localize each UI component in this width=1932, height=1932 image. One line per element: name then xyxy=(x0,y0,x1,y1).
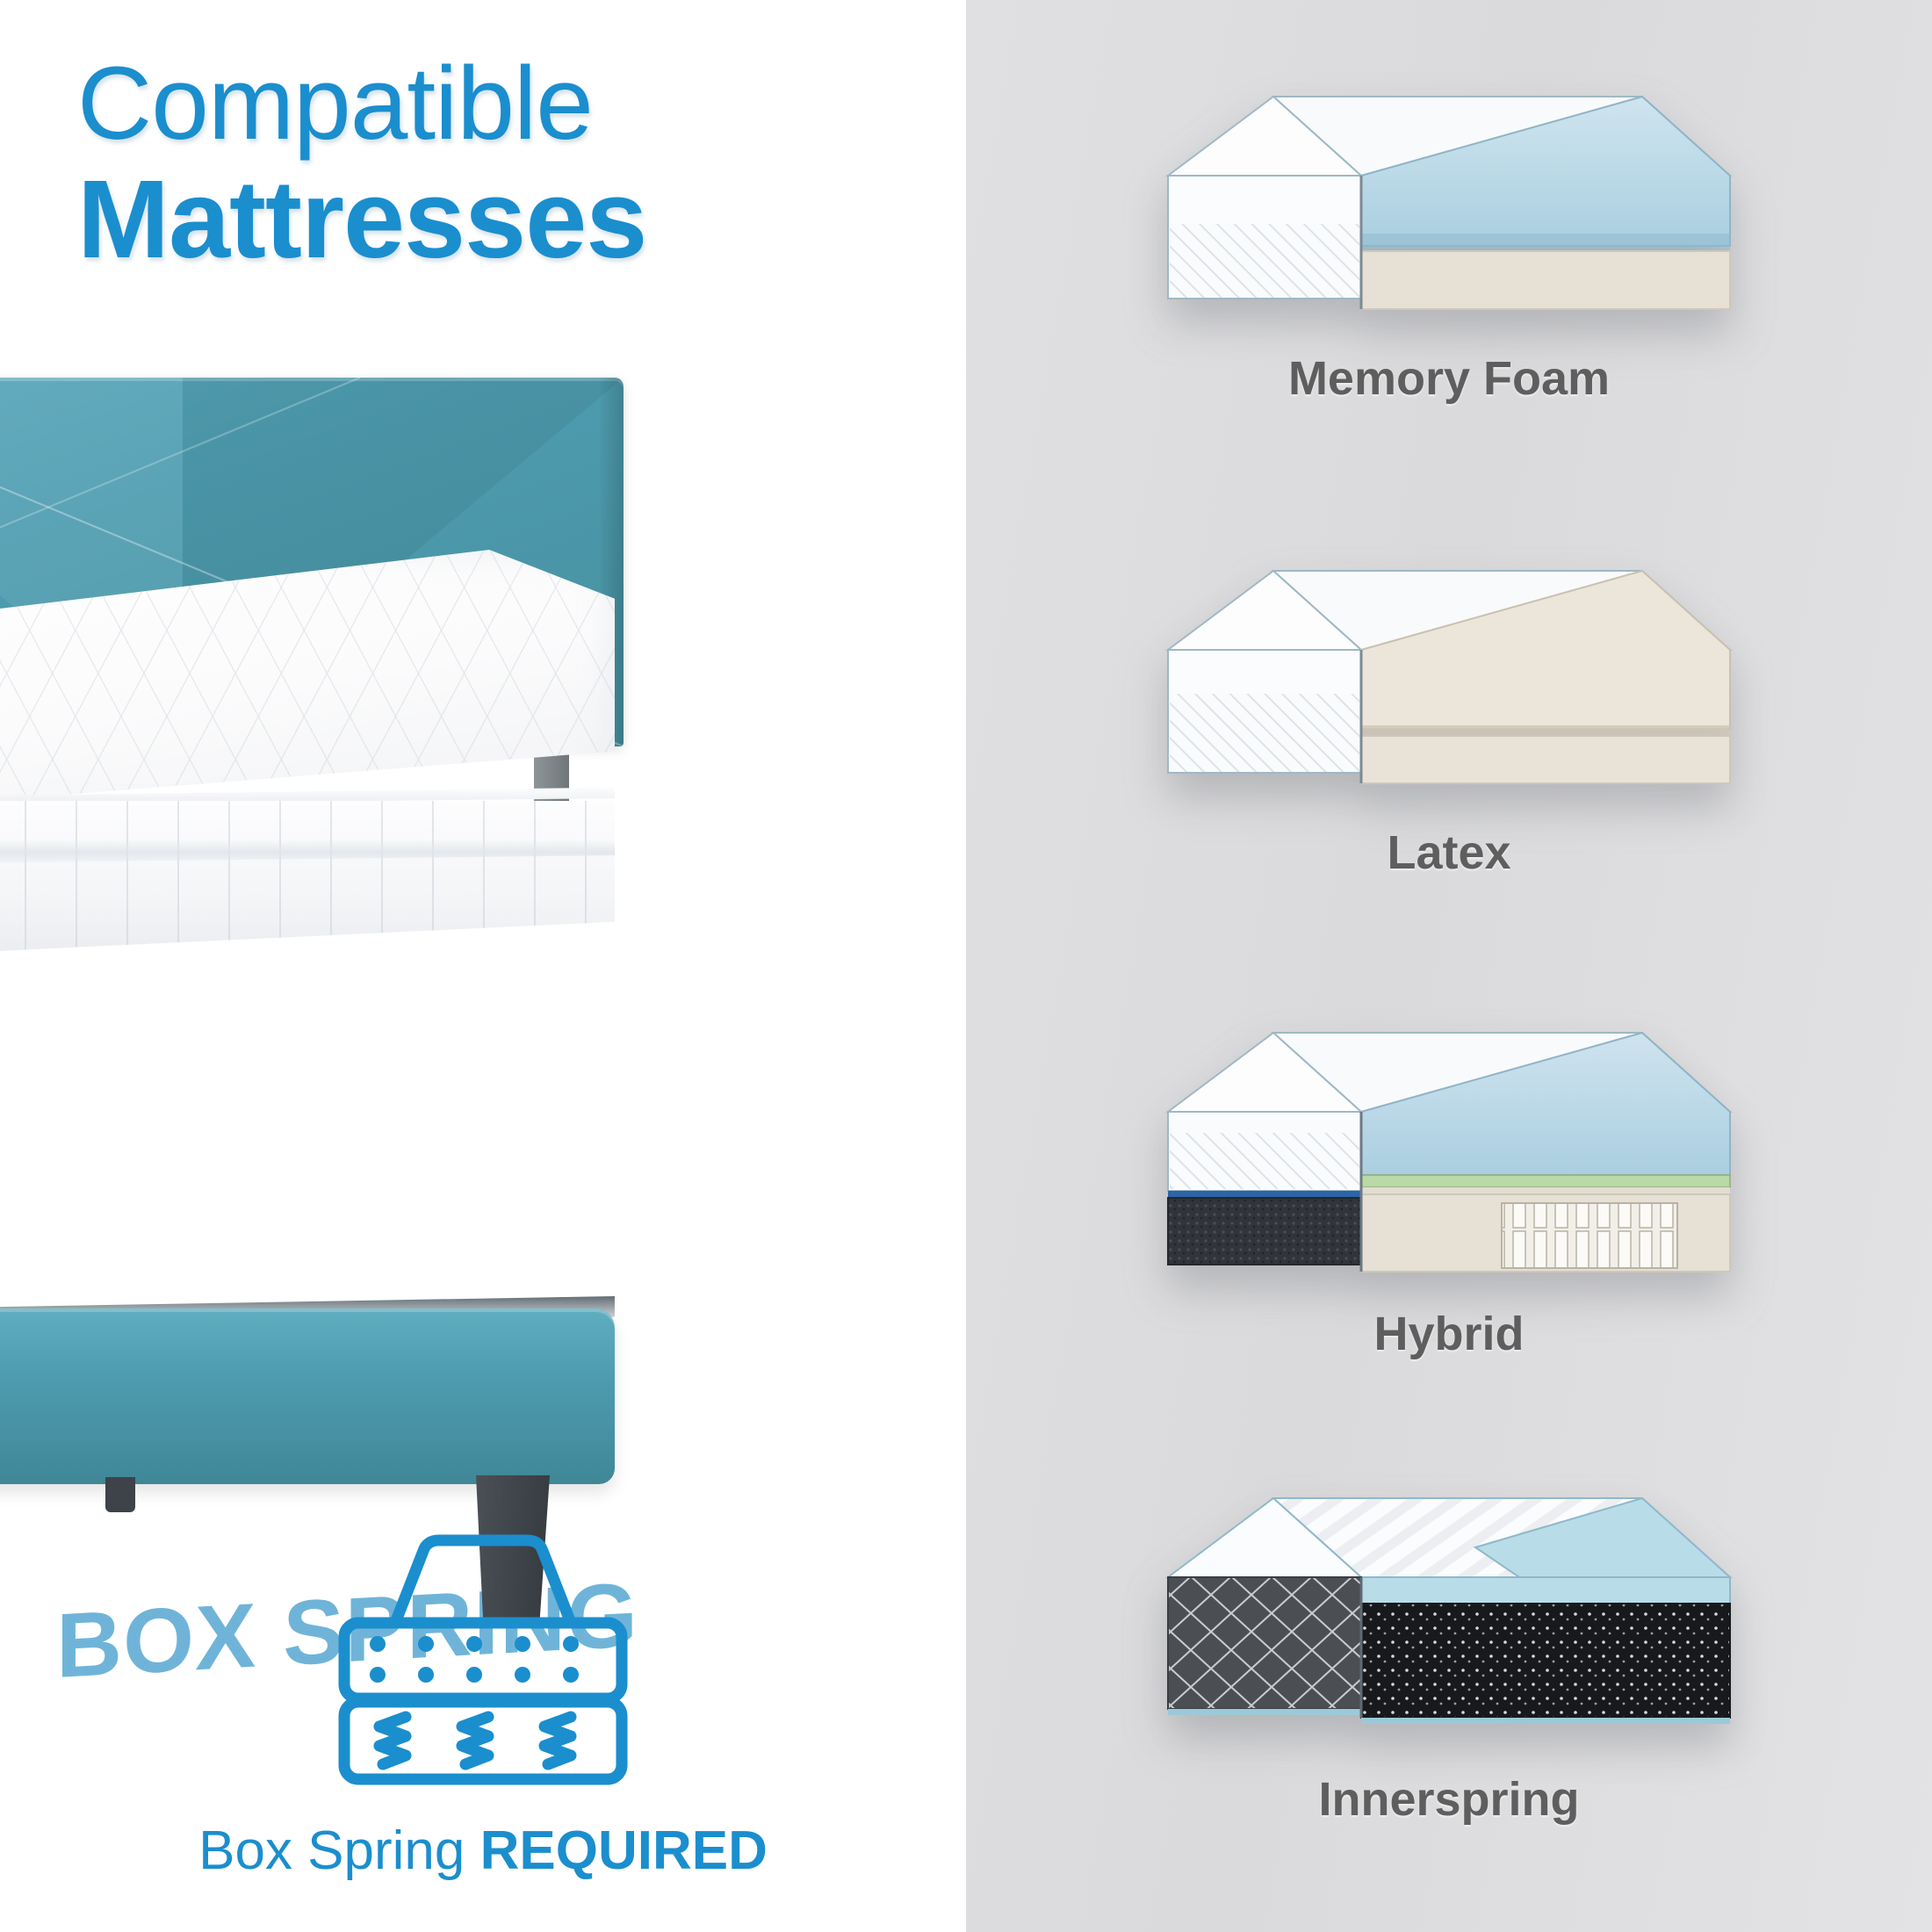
mattress-on-bed xyxy=(0,550,615,962)
hybrid-mattress-icon xyxy=(1150,1019,1765,1322)
mattress-card-memory-foam: Memory Foam xyxy=(1010,61,1888,465)
mattress-card-innerspring: Innerspring xyxy=(1010,1467,1888,1888)
page-title: Compatible Mattresses xyxy=(77,51,920,278)
label-memory-foam: Memory Foam xyxy=(1010,351,1888,406)
left-panel: Compatible Mattresses xyxy=(0,0,966,1932)
title-line-compatible: Compatible xyxy=(77,51,920,156)
bed-illustration: BOX SPRING xyxy=(0,378,887,1572)
quilt-pattern xyxy=(0,550,615,822)
mattress-quilted-top xyxy=(0,550,615,822)
memory-foam-mattress-icon xyxy=(1150,79,1765,373)
label-latex: Latex xyxy=(1010,825,1888,880)
infographic-root: Compatible Mattresses xyxy=(0,0,1932,1932)
latex-mattress-icon xyxy=(1150,553,1765,847)
mattress-card-latex: Latex xyxy=(1010,536,1888,940)
label-innerspring: Innerspring xyxy=(1010,1772,1888,1827)
side-rib-pattern xyxy=(0,801,615,964)
title-line-mattresses: Mattresses xyxy=(77,162,920,278)
mattress-card-hybrid: Hybrid xyxy=(1010,1001,1888,1423)
innerspring-mattress-icon xyxy=(1150,1484,1765,1787)
caption-regular-text: Box Spring xyxy=(198,1820,480,1881)
bed-frame-rail xyxy=(0,1308,615,1484)
label-hybrid: Hybrid xyxy=(1010,1307,1888,1361)
box-spring-icon xyxy=(325,1528,641,1791)
mattress-side-panel xyxy=(0,801,615,964)
box-spring-required-caption: Box Spring REQUIRED xyxy=(0,1820,966,1882)
bed-leg-far xyxy=(105,1477,135,1512)
caption-bold-text: REQUIRED xyxy=(480,1820,768,1881)
right-panel: Memory Foam Latex xyxy=(966,0,1932,1932)
